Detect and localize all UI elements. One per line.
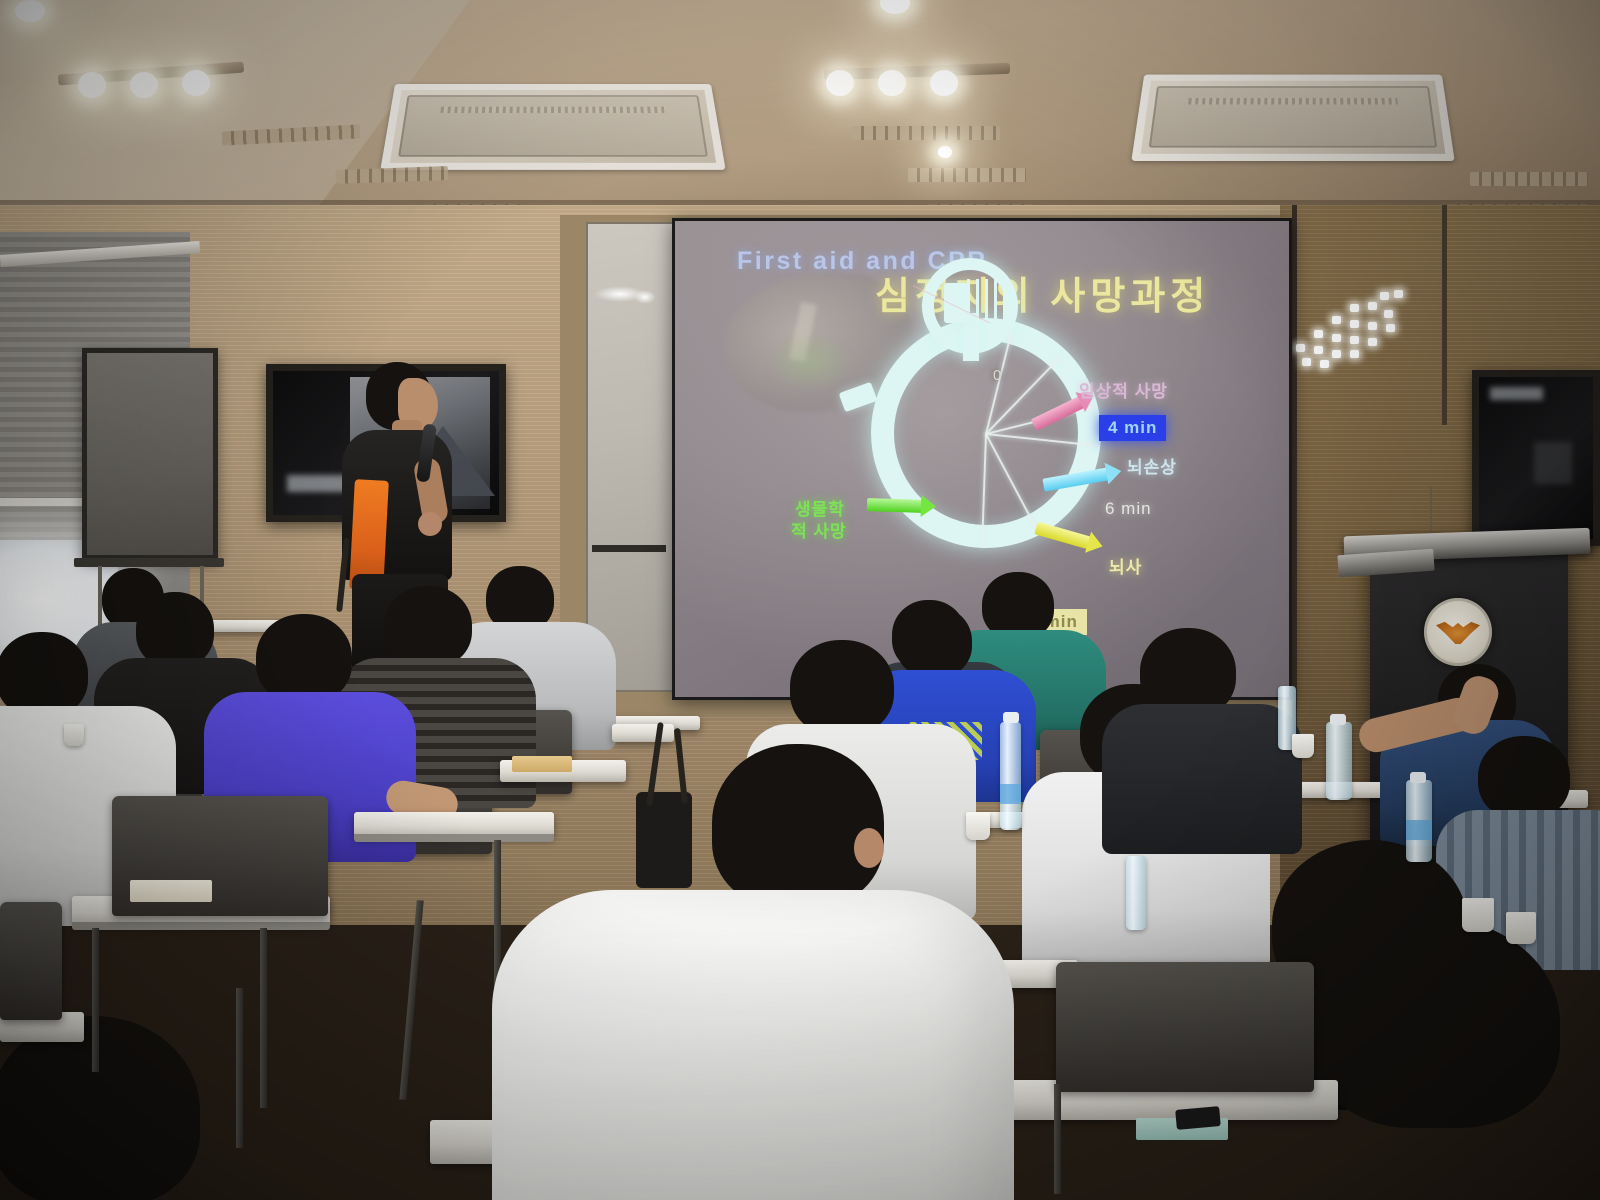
- ceiling-ac-cassette-2: [1131, 75, 1454, 161]
- paper-cup: [1506, 912, 1536, 944]
- label-clinical-death: 임상적 사망: [1079, 377, 1168, 402]
- paper-cup: [64, 724, 84, 746]
- label-brain-death: 뇌사: [1109, 553, 1142, 578]
- chair-leg: [399, 900, 423, 1100]
- led-dot: [1302, 358, 1311, 366]
- attendee-head: [256, 614, 352, 704]
- led-dot: [1296, 344, 1305, 352]
- attendee-head: [1478, 736, 1570, 820]
- led-dot: [1320, 360, 1329, 368]
- led-dot: [1314, 330, 1323, 338]
- water-bottle: [1126, 856, 1146, 930]
- chair: [0, 902, 62, 1020]
- panel-reflection-2: [634, 290, 656, 304]
- attendee-ear: [854, 828, 884, 868]
- desk-leg: [92, 928, 99, 1072]
- projected-slide: First aid and CPR 심정지의 사망과정 0: [675, 221, 1289, 697]
- lecture-hall-photo: First aid and CPR 심정지의 사망과정 0: [0, 0, 1600, 1200]
- chair-leg: [1054, 1084, 1061, 1194]
- attendee-head: [384, 586, 472, 668]
- shoulder-bag: [636, 792, 692, 888]
- attendee-head: [0, 1016, 200, 1200]
- handout-paper: [130, 880, 212, 902]
- led-dot: [1368, 322, 1377, 330]
- desk-leg: [260, 928, 267, 1108]
- chair: [1056, 962, 1314, 1092]
- led-dot: [1350, 320, 1359, 328]
- ac-grill-2: [1188, 98, 1398, 104]
- attendee-head: [712, 744, 884, 908]
- led-dot: [1368, 302, 1377, 310]
- ceiling-spotlight: [78, 72, 106, 98]
- led-dot: [1332, 316, 1341, 324]
- label-biological-death-line1: 생물학: [795, 499, 845, 520]
- monitor-reflection-right: [1490, 387, 1542, 400]
- monitor-reflection-right-2: [1534, 442, 1573, 484]
- bottle-cap: [1410, 772, 1426, 783]
- ceiling-spotlight: [938, 146, 952, 158]
- water-bottle: [1000, 722, 1021, 830]
- attendee-head: [1310, 918, 1560, 1128]
- desk: [612, 724, 674, 742]
- ac-vent-panel-2: [1149, 86, 1438, 147]
- time-tag-4min: 4 min: [1099, 415, 1166, 441]
- paper-cup: [1292, 734, 1314, 758]
- led-array: [1288, 288, 1404, 364]
- water-bottle: [1326, 722, 1352, 800]
- bottle-label: [1000, 784, 1021, 804]
- led-dot: [1350, 350, 1359, 358]
- label-brain-damage: 뇌손상: [1127, 453, 1177, 478]
- attendee-head: [790, 640, 894, 736]
- ceiling-vent: [852, 126, 1000, 140]
- ceiling-spotlight: [878, 70, 906, 96]
- ceiling-spotlight: [130, 72, 158, 98]
- ceiling-spotlight: [15, 0, 45, 22]
- desk-edge: [354, 834, 554, 842]
- bottle-cap: [1003, 712, 1019, 723]
- podium-emblem: [1424, 598, 1492, 666]
- projection-screen: First aid and CPR 심정지의 사망과정 0: [672, 218, 1292, 700]
- bottle-label: [1406, 820, 1432, 840]
- ceiling-ac-cassette: [380, 84, 725, 170]
- bottle-cap: [1330, 714, 1346, 725]
- led-dot: [1314, 346, 1323, 354]
- led-dot: [1332, 334, 1341, 342]
- whiteboard-panel: [82, 348, 218, 560]
- led-dot: [1394, 290, 1403, 298]
- ac-vent-panel: [398, 95, 708, 157]
- mobile-phone: [1175, 1106, 1221, 1130]
- led-dot: [1386, 324, 1395, 332]
- led-dot: [1384, 310, 1393, 318]
- glass-panel: [586, 222, 680, 692]
- eagle-crest-icon: [1436, 620, 1480, 644]
- ceiling-spotlight: [930, 70, 958, 96]
- label-biological-death-line2: 적 사망: [791, 521, 847, 542]
- ac-grill: [440, 107, 665, 113]
- attendee-torso: [1102, 704, 1302, 854]
- wall-seam-2: [1442, 205, 1447, 425]
- desk-edge: [72, 922, 330, 930]
- ceiling-vent: [908, 168, 1026, 182]
- attendee-head: [896, 606, 972, 678]
- led-dot: [1350, 336, 1359, 344]
- ceiling-vent: [1470, 172, 1588, 186]
- ceiling-spotlight: [182, 70, 210, 96]
- presenter-hand: [418, 512, 442, 536]
- wall-monitor-right: [1472, 370, 1600, 546]
- attendee-torso: [492, 890, 1014, 1200]
- handout-paper: [512, 756, 572, 772]
- stopwatch-hatching: [967, 279, 1011, 323]
- led-dot: [1368, 338, 1377, 346]
- paper-cup: [1462, 898, 1494, 932]
- arrow-biological-death: [867, 498, 923, 513]
- led-dot: [1380, 292, 1389, 300]
- zero-label: 0: [993, 367, 1001, 384]
- chair-leg: [236, 988, 243, 1148]
- led-dot: [1332, 350, 1341, 358]
- led-dot: [1350, 304, 1359, 312]
- panel-bar: [592, 545, 666, 552]
- time-tag-6min: 6 min: [1105, 499, 1152, 519]
- ceiling-spotlight: [826, 70, 854, 96]
- brain-graphic: [767, 333, 853, 391]
- attendee-head: [136, 592, 214, 668]
- paper-cup: [966, 812, 990, 840]
